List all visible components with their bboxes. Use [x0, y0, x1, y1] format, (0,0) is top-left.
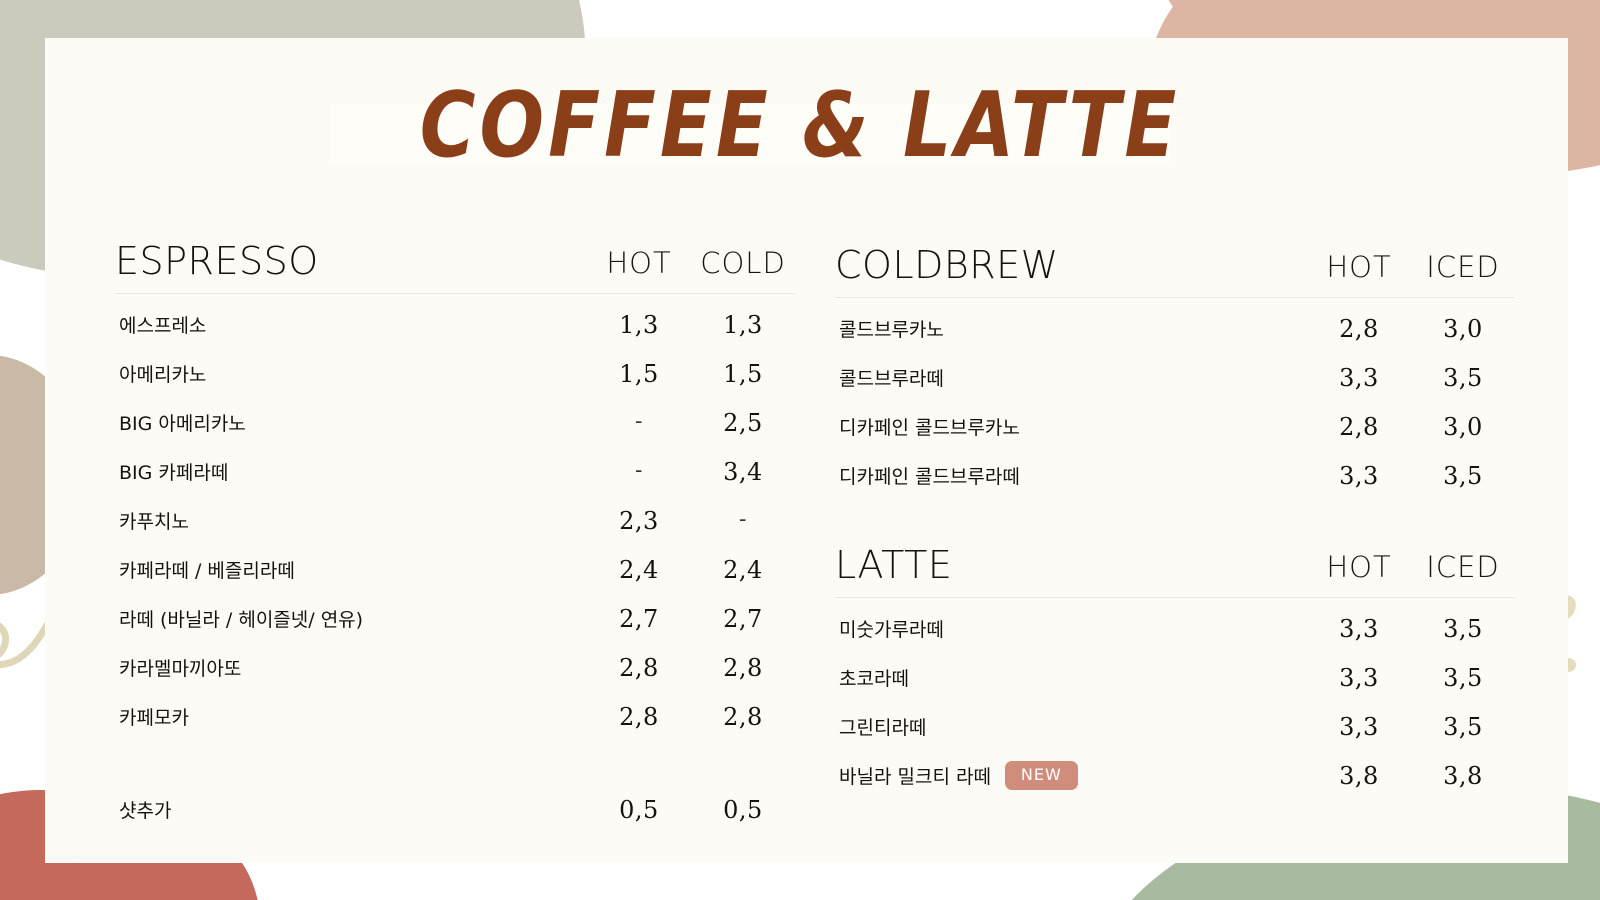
section-title: COLDBREW: [835, 246, 1059, 284]
menu-item-row[interactable]: 카푸치노2,3-: [115, 496, 795, 545]
section-column-labels: HOTICED: [1307, 553, 1515, 582]
menu-columns: ESPRESSOHOTCOLD에스프레소1,31,3아메리카노1,51,5BIG…: [45, 38, 1568, 863]
menu-section-latte: LATTEHOTICED미숫가루라떼3,33,5초코라떼3,33,5그린티라떼3…: [835, 538, 1515, 800]
section-header-espresso: ESPRESSOHOTCOLD: [115, 234, 795, 280]
price-hot: -: [587, 458, 691, 486]
menu-item-name-wrap: 디카페인 콜드브루카노: [835, 413, 1307, 440]
menu-section-coldbrew: COLDBREWHOTICED콜드브루카노2,83,0콜드브루라떼3,33,5디…: [835, 238, 1515, 500]
price-iced: 3,0: [1411, 315, 1515, 343]
menu-item-row[interactable]: 아메리카노1,51,5: [115, 349, 795, 398]
section-rows: 에스프레소1,31,3아메리카노1,51,5BIG 아메리카노-2,5BIG 카…: [115, 300, 795, 834]
menu-item-name: 디카페인 콜드브루카노: [839, 413, 1020, 440]
price-hot: 0,5: [587, 796, 691, 824]
menu-item-name-wrap: 콜드브루라떼: [835, 364, 1307, 391]
menu-item-row[interactable]: 에스프레소1,31,3: [115, 300, 795, 349]
column-label-iced: ICED: [1411, 553, 1515, 582]
menu-item-row[interactable]: 콜드브루라떼3,33,5: [835, 353, 1515, 402]
price-hot: 2,3: [587, 507, 691, 535]
menu-item-row[interactable]: 바닐라 밀크티 라떼NEW3,83,8: [835, 751, 1515, 800]
section-column-labels: HOTICED: [1307, 253, 1515, 282]
menu-item-name-wrap: 콜드브루카노: [835, 315, 1307, 342]
price-cold: 3,4: [691, 458, 795, 486]
section-rows: 미숫가루라떼3,33,5초코라떼3,33,5그린티라떼3,33,5바닐라 밀크티…: [835, 604, 1515, 800]
price-iced: 3,5: [1411, 615, 1515, 643]
price-iced: 3,5: [1411, 664, 1515, 692]
menu-item-row[interactable]: 카라멜마끼아또2,82,8: [115, 643, 795, 692]
menu-item-row[interactable]: 라떼 (바닐라 / 헤이즐넷/ 연유)2,72,7: [115, 594, 795, 643]
price-hot: 2,8: [1307, 315, 1411, 343]
price-cold: 2,4: [691, 556, 795, 584]
menu-item-prices: 3,33,5: [1307, 713, 1515, 741]
menu-item-prices: -2,5: [587, 409, 795, 437]
menu-item-name: 카페라떼 / 베즐리라떼: [119, 556, 295, 583]
menu-item-prices: 2,3-: [587, 507, 795, 535]
price-cold: 0,5: [691, 796, 795, 824]
price-hot: 2,8: [1307, 413, 1411, 441]
menu-item-prices: 2,72,7: [587, 605, 795, 633]
menu-item-prices: 3,33,5: [1307, 364, 1515, 392]
menu-item-prices: 2,83,0: [1307, 413, 1515, 441]
menu-item-prices: 1,31,3: [587, 311, 795, 339]
menu-item-name: 그린티라떼: [839, 713, 926, 740]
price-hot: 2,8: [587, 654, 691, 682]
menu-item-row[interactable]: 콜드브루카노2,83,0: [835, 304, 1515, 353]
menu-item-prices: -3,4: [587, 458, 795, 486]
menu-item-name: 바닐라 밀크티 라떼: [839, 762, 991, 789]
column-label-hot: HOT: [587, 249, 691, 278]
column-label-iced: ICED: [1411, 253, 1515, 282]
column-label-hot: HOT: [1307, 253, 1411, 282]
menu-item-name-wrap: 카라멜마끼아또: [115, 654, 587, 681]
section-divider: [835, 297, 1515, 298]
price-iced: 3,8: [1411, 762, 1515, 790]
price-hot: 1,5: [587, 360, 691, 388]
price-cold: 1,5: [691, 360, 795, 388]
menu-item-name-wrap: 미숫가루라떼: [835, 615, 1307, 642]
menu-item-prices: 3,83,8: [1307, 762, 1515, 790]
menu-item-prices: 2,42,4: [587, 556, 795, 584]
menu-item-row[interactable]: BIG 카페라떼-3,4: [115, 447, 795, 496]
price-hot: 3,3: [1307, 713, 1411, 741]
price-hot: 2,7: [587, 605, 691, 633]
price-cold: 1,3: [691, 311, 795, 339]
menu-item-row[interactable]: 디카페인 콜드브루라떼3,33,5: [835, 451, 1515, 500]
menu-item-name: 카푸치노: [119, 507, 189, 534]
menu-item-name-wrap: 에스프레소: [115, 311, 587, 338]
menu-poster: COFFEE & LATTE ESPRESSOHOTCOLD에스프레소1,31,…: [0, 0, 1600, 900]
menu-item-name-wrap: 카푸치노: [115, 507, 587, 534]
section-title: ESPRESSO: [115, 242, 319, 280]
menu-item-row[interactable]: 초코라떼3,33,5: [835, 653, 1515, 702]
menu-item-prices: 0,50,5: [587, 796, 795, 824]
new-badge: NEW: [1005, 761, 1078, 790]
menu-item-prices: 2,82,8: [587, 654, 795, 682]
price-cold: 2,8: [691, 654, 795, 682]
menu-item-prices: 3,33,5: [1307, 664, 1515, 692]
menu-item-name: 콜드브루라떼: [839, 364, 944, 391]
menu-item-name-wrap: 아메리카노: [115, 360, 587, 387]
menu-item-name-wrap: 라떼 (바닐라 / 헤이즐넷/ 연유): [115, 605, 587, 632]
price-iced: 3,0: [1411, 413, 1515, 441]
menu-item-row[interactable]: 카페라떼 / 베즐리라떼2,42,4: [115, 545, 795, 594]
section-column-labels: HOTCOLD: [587, 249, 795, 278]
menu-item-name-wrap: BIG 카페라떼: [115, 458, 587, 485]
column-label-hot: HOT: [1307, 553, 1411, 582]
menu-item-name-wrap: 그린티라떼: [835, 713, 1307, 740]
price-cold: 2,5: [691, 409, 795, 437]
price-hot: 2,8: [587, 703, 691, 731]
menu-item-prices: 3,33,5: [1307, 615, 1515, 643]
price-hot: 3,3: [1307, 462, 1411, 490]
menu-item-name-wrap: 카페라떼 / 베즐리라떼: [115, 556, 587, 583]
menu-item-prices: 2,83,0: [1307, 315, 1515, 343]
menu-item-prices: 2,82,8: [587, 703, 795, 731]
menu-item-name: 아메리카노: [119, 360, 206, 387]
menu-item-name: 라떼 (바닐라 / 헤이즐넷/ 연유): [119, 605, 363, 632]
menu-item-name: 미숫가루라떼: [839, 615, 944, 642]
menu-item-name: BIG 카페라떼: [119, 458, 228, 485]
menu-item-row[interactable]: 샷추가0,50,5: [115, 785, 795, 834]
menu-item-row[interactable]: 미숫가루라떼3,33,5: [835, 604, 1515, 653]
menu-item-name: 카라멜마끼아또: [119, 654, 241, 681]
price-cold: 2,7: [691, 605, 795, 633]
column-label-cold: COLD: [691, 249, 795, 278]
price-iced: 3,5: [1411, 364, 1515, 392]
menu-item-prices: 3,33,5: [1307, 462, 1515, 490]
menu-item-row[interactable]: 디카페인 콜드브루카노2,83,0: [835, 402, 1515, 451]
menu-item-row[interactable]: BIG 아메리카노-2,5: [115, 398, 795, 447]
row-spacer: [115, 741, 795, 785]
menu-item-name-wrap: 샷추가: [115, 796, 587, 823]
section-header-coldbrew: COLDBREWHOTICED: [835, 238, 1515, 284]
menu-item-prices: 1,51,5: [587, 360, 795, 388]
price-cold: -: [691, 507, 795, 535]
price-hot: 3,8: [1307, 762, 1411, 790]
menu-item-name-wrap: 바닐라 밀크티 라떼NEW: [835, 761, 1307, 790]
menu-item-name: BIG 아메리카노: [119, 409, 246, 436]
section-divider: [115, 293, 795, 294]
section-divider: [835, 597, 1515, 598]
menu-section-espresso: ESPRESSOHOTCOLD에스프레소1,31,3아메리카노1,51,5BIG…: [115, 234, 795, 834]
menu-item-name: 에스프레소: [119, 311, 206, 338]
menu-item-name: 샷추가: [119, 796, 171, 823]
section-rows: 콜드브루카노2,83,0콜드브루라떼3,33,5디카페인 콜드브루카노2,83,…: [835, 304, 1515, 500]
price-cold: 2,8: [691, 703, 795, 731]
menu-item-name: 카페모카: [119, 703, 189, 730]
menu-item-name: 디카페인 콜드브루라떼: [839, 462, 1020, 489]
price-hot: 3,3: [1307, 615, 1411, 643]
price-hot: 2,4: [587, 556, 691, 584]
menu-item-name: 콜드브루카노: [839, 315, 944, 342]
price-hot: 1,3: [587, 311, 691, 339]
menu-item-name-wrap: BIG 아메리카노: [115, 409, 587, 436]
menu-item-name-wrap: 카페모카: [115, 703, 587, 730]
menu-item-name-wrap: 초코라떼: [835, 664, 1307, 691]
price-hot: 3,3: [1307, 364, 1411, 392]
price-hot: -: [587, 409, 691, 437]
price-iced: 3,5: [1411, 462, 1515, 490]
price-hot: 3,3: [1307, 664, 1411, 692]
menu-item-row[interactable]: 카페모카2,82,8: [115, 692, 795, 741]
section-header-latte: LATTEHOTICED: [835, 538, 1515, 584]
menu-item-name: 초코라떼: [839, 664, 909, 691]
menu-item-row[interactable]: 그린티라떼3,33,5: [835, 702, 1515, 751]
section-title: LATTE: [835, 546, 952, 584]
menu-item-name-wrap: 디카페인 콜드브루라떼: [835, 462, 1307, 489]
price-iced: 3,5: [1411, 713, 1515, 741]
